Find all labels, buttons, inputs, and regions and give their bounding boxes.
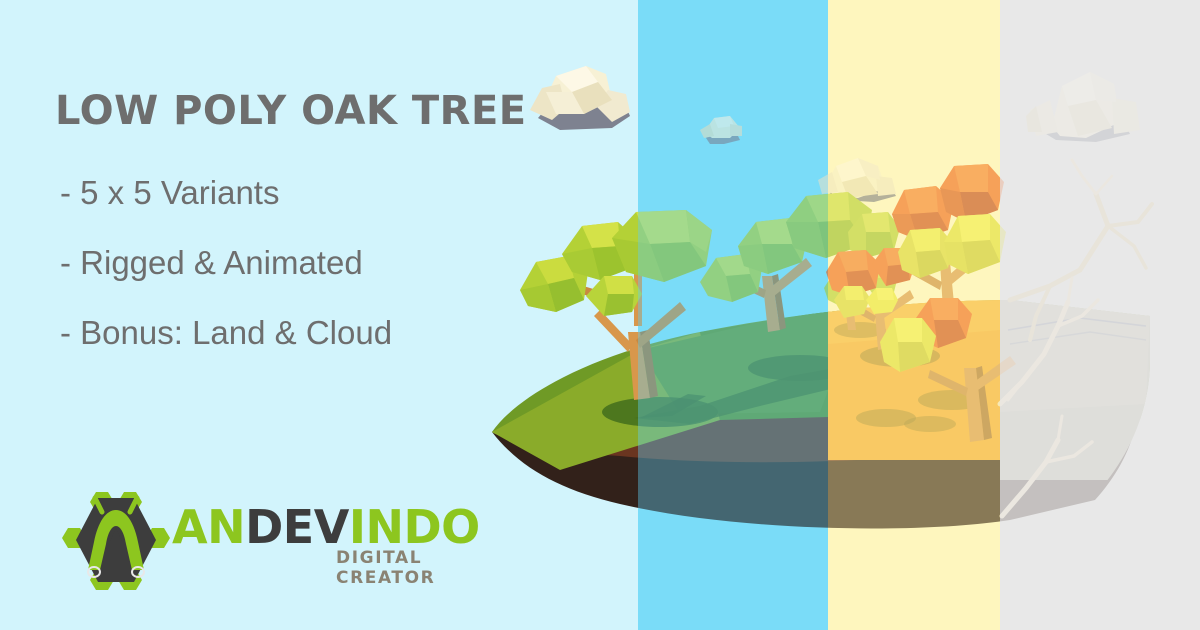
feature-list: - 5 x 5 Variants - Rigged & Animated - B… <box>60 176 392 386</box>
page-title: LOW POLY OAK TREE <box>55 88 527 134</box>
list-item: - 5 x 5 Variants <box>60 176 392 209</box>
logo-word-part2: DEV <box>245 500 349 554</box>
logo-wordmark: ANDEVINDO <box>172 504 480 550</box>
foliage-cluster <box>892 164 1006 278</box>
brand-logo: ANDEVINDO DIGITAL CREATOR <box>62 488 462 594</box>
logo-tagline: DIGITAL CREATOR <box>336 548 462 588</box>
logo-word-part3: INDO <box>349 500 480 554</box>
android-hexagon-icon <box>62 488 170 594</box>
text-panel: LOW POLY OAK TREE - 5 x 5 Variants - Rig… <box>0 0 560 630</box>
list-item: - Bonus: Land & Cloud <box>60 316 392 349</box>
promo-banner: LOW POLY OAK TREE - 5 x 5 Variants - Rig… <box>0 0 1200 630</box>
cloud-small-center <box>700 116 742 144</box>
logo-word-part1: AN <box>172 500 245 554</box>
list-item: - Rigged & Animated <box>60 246 392 279</box>
cloud-large-right <box>1026 72 1140 142</box>
